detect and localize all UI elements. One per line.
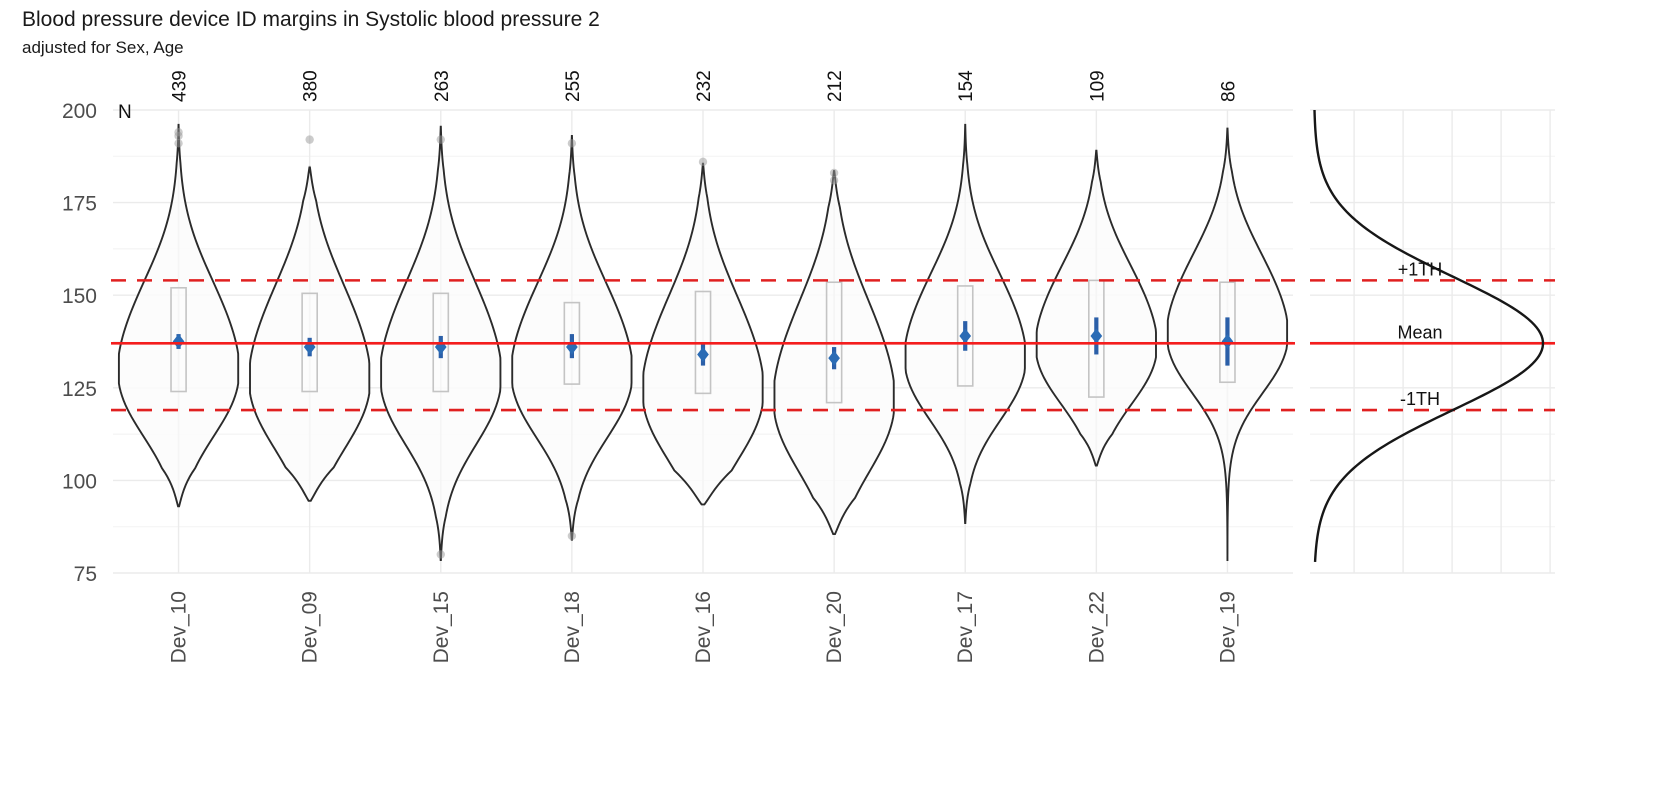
n-label: 380 — [301, 70, 322, 102]
violin-group — [774, 169, 893, 534]
y-tick-label: 150 — [62, 285, 97, 308]
n-label: 232 — [694, 70, 715, 102]
x-tick-label-Dev_10: Dev_10 — [168, 591, 191, 663]
x-tick-label-Dev_17: Dev_17 — [954, 591, 977, 663]
outlier-point — [568, 532, 576, 540]
n-header: N — [118, 102, 132, 123]
outlier-point — [830, 169, 838, 177]
violin-group — [643, 158, 762, 505]
n-label: 263 — [432, 70, 453, 102]
violin-group — [119, 125, 238, 507]
violin-group — [250, 135, 369, 500]
x-tick-label-Dev_15: Dev_15 — [430, 591, 453, 663]
x-tick-label-Dev_09: Dev_09 — [299, 591, 322, 663]
n-labels: N43938026325523221215410986 — [118, 70, 1239, 123]
x-tick-label-Dev_18: Dev_18 — [561, 591, 584, 663]
n-label: 86 — [1218, 81, 1239, 102]
reference-label: +1TH — [1398, 259, 1443, 279]
n-label: 212 — [825, 70, 846, 102]
outlier-point — [174, 132, 182, 140]
outlier-point — [174, 139, 182, 147]
n-label: 255 — [563, 70, 584, 102]
outlier-point — [305, 135, 313, 143]
violin-group — [906, 125, 1025, 523]
reference-label: Mean — [1397, 322, 1442, 342]
violin-group — [1037, 151, 1156, 466]
x-tick-label-Dev_22: Dev_22 — [1085, 591, 1108, 663]
n-label: 109 — [1087, 70, 1108, 102]
outlier-point — [830, 176, 838, 184]
n-label: 154 — [956, 70, 977, 102]
y-tick-label: 175 — [62, 193, 97, 216]
x-axis-ticks: Dev_10Dev_09Dev_15Dev_18Dev_16Dev_20Dev_… — [168, 591, 1240, 663]
violin-group — [512, 136, 631, 540]
reference-line-labels: +1THMean-1TH — [1397, 259, 1442, 409]
outlier-point — [699, 158, 707, 166]
x-tick-label-Dev_19: Dev_19 — [1216, 591, 1239, 663]
x-tick-label-Dev_16: Dev_16 — [692, 591, 715, 663]
chart-page: Blood pressure device ID margins in Syst… — [0, 0, 1666, 785]
y-tick-label: 100 — [62, 470, 97, 493]
reference-label: -1TH — [1400, 389, 1440, 409]
y-axis-ticks: 20017515012510075 — [62, 100, 97, 586]
violin-plot: +1THMean-1TH 20017515012510075 Dev_10Dev… — [0, 0, 1666, 785]
n-label: 439 — [170, 70, 191, 102]
y-tick-label: 125 — [62, 378, 97, 401]
y-tick-label: 75 — [74, 563, 97, 586]
outlier-point — [437, 550, 445, 558]
y-tick-label: 200 — [62, 100, 97, 123]
outlier-point — [437, 135, 445, 143]
outlier-point — [568, 139, 576, 147]
x-tick-label-Dev_20: Dev_20 — [823, 591, 846, 663]
